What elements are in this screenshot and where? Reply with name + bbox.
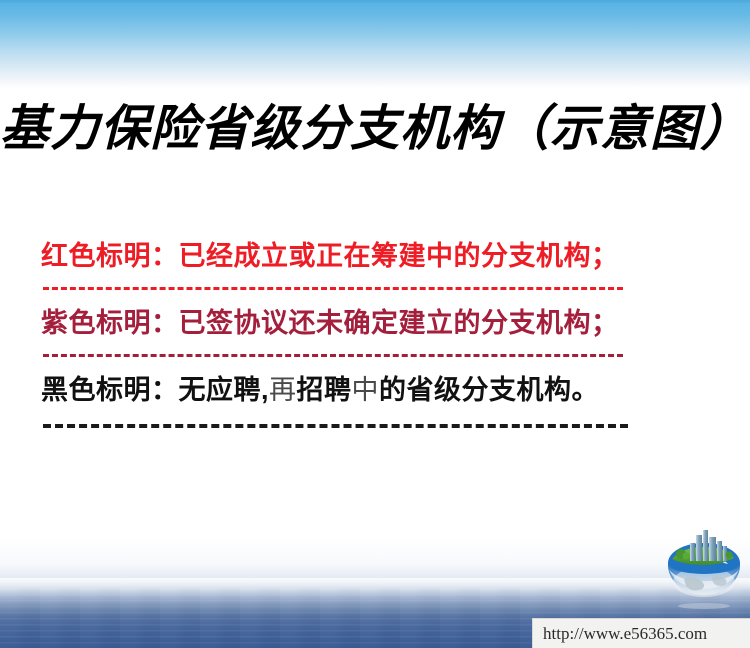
globe-city-logo <box>662 527 746 611</box>
legend-block: 红色标明：已经成立或正在筹建中的分支机构； 紫色标明：已签协议还未确定建立的分支… <box>41 236 701 441</box>
page-title: 基力保险省级分支机构（示意图） <box>0 98 750 160</box>
sky-gradient-background <box>0 0 750 88</box>
legend-label-purple: 紫色标明：已签协议还未确定建立的分支机构； <box>41 303 701 343</box>
legend-label-black-part-3: 招聘 <box>297 375 352 405</box>
legend-row-red: 红色标明：已经成立或正在筹建中的分支机构； <box>41 236 701 290</box>
legend-label-black-part-4: 中 <box>352 375 380 405</box>
legend-label-red: 红色标明：已经成立或正在筹建中的分支机构； <box>41 236 701 276</box>
legend-label-black: 黑色标明：无应聘,再招聘中的省级分支机构。 <box>41 370 701 410</box>
sky-top-edge <box>0 0 750 3</box>
legend-label-black-part-2: 再 <box>269 375 297 405</box>
globe-city-icon <box>662 527 746 611</box>
legend-separator-purple <box>43 354 623 357</box>
legend-label-black-part-1: 黑色标明：无应聘, <box>41 375 269 405</box>
watermark-url-text: http://www.e56365.com <box>543 622 707 646</box>
slide-canvas: 基力保险省级分支机构（示意图） 红色标明：已经成立或正在筹建中的分支机构； 紫色… <box>0 0 750 648</box>
watermark-box: http://www.e56365.com <box>532 618 750 648</box>
legend-separator-black <box>43 424 628 428</box>
legend-separator-red <box>43 287 623 290</box>
legend-row-black: 黑色标明：无应聘,再招聘中的省级分支机构。 <box>41 370 701 428</box>
legend-label-black-part-5: 的省级分支机构。 <box>379 375 599 405</box>
legend-row-purple: 紫色标明：已签协议还未确定建立的分支机构； <box>41 303 701 357</box>
